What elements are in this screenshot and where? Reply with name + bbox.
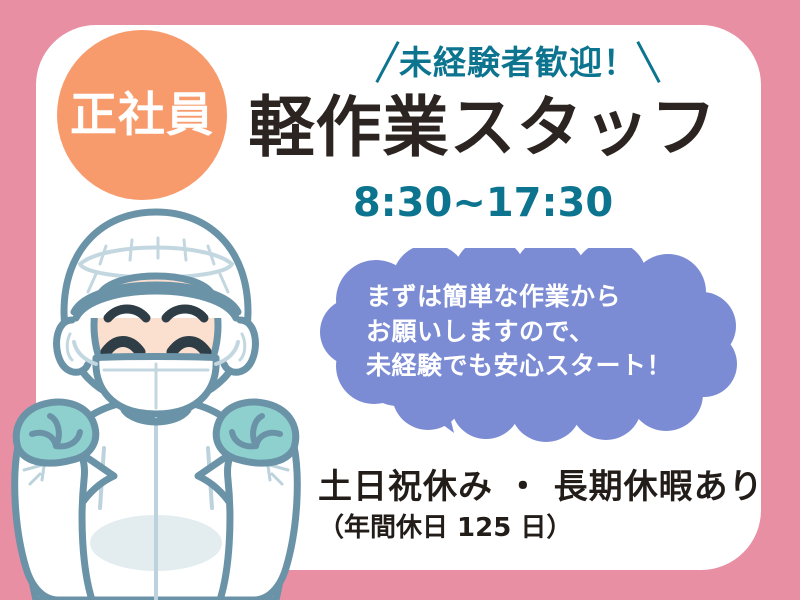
job-advertisement-poster: 正社員 未経験者歓迎！ 軽作業スタッフ 8:30~17:30 <box>0 0 800 600</box>
holiday-headline: 土日祝休み ・ 長期休暇あり <box>318 470 764 504</box>
factory-worker-illustration <box>0 208 326 600</box>
bubble-line-1: まずは簡単な作業から <box>366 280 706 315</box>
bubble-line-3: 未経験でも安心スタート！ <box>366 349 706 384</box>
page-title: 軽作業スタッフ <box>228 95 738 161</box>
annual-holiday-note: （年間休日 125 日） <box>318 515 572 541</box>
bubble-line-2: お願いしますので、 <box>366 315 706 350</box>
employment-type-badge: 正社員 <box>57 30 227 200</box>
speech-bubble-text: まずは簡単な作業から お願いしますので、 未経験でも安心スタート！ <box>366 280 706 384</box>
kicker-text: 未経験者歓迎！ <box>399 46 637 79</box>
badge-label: 正社員 <box>70 92 214 139</box>
speech-bubble: まずは簡単な作業から お願いしますので、 未経験でも安心スタート！ <box>318 248 738 453</box>
kicker-row: 未経験者歓迎！ <box>318 32 718 92</box>
working-hours: 8:30~17:30 <box>228 183 738 223</box>
slash-right-icon <box>636 41 660 83</box>
slash-left-icon <box>375 41 399 83</box>
